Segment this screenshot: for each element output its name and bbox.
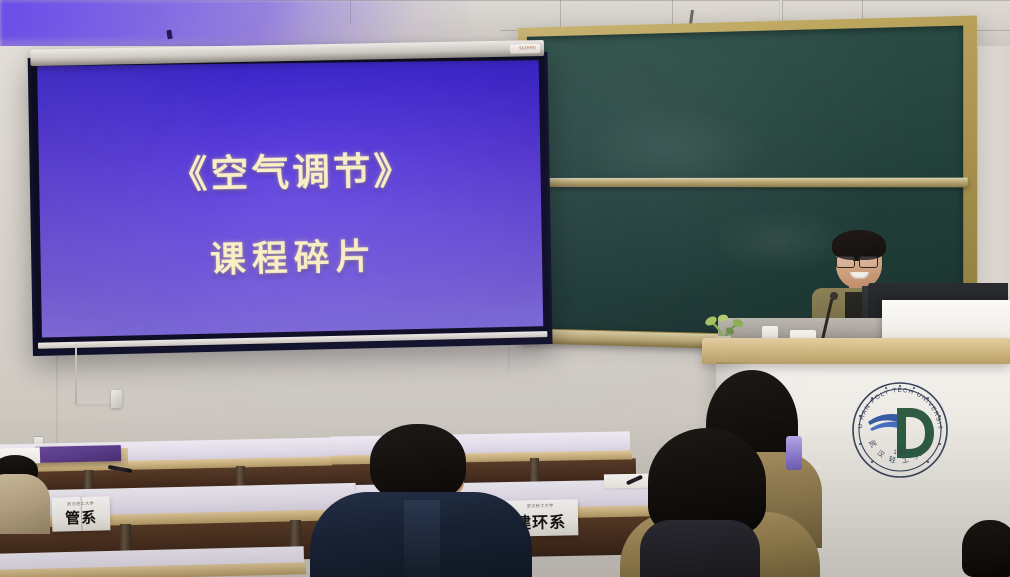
student-far-right-hair — [962, 520, 1010, 577]
student-left-edge-body — [0, 474, 50, 534]
nameplate-left[interactable]: 武汉轻工大学 管系 — [52, 496, 111, 532]
screen-bevel: 《空气调节》 课程碎片 — [31, 55, 550, 350]
screen-canvas: 《空气调节》 课程碎片 — [37, 60, 543, 337]
purple-notebook[interactable] — [35, 445, 121, 463]
microphone-icon[interactable] — [830, 292, 838, 300]
university-seal-logo: WU HAN POLY TECH UNIVERSITY 武 汉 轻 工 大 学 … — [848, 378, 952, 482]
screen-pull-cord[interactable] — [75, 404, 115, 407]
projector-light-spill — [0, 0, 300, 40]
glasses-icon — [836, 256, 882, 266]
jacket-center-seam — [404, 500, 440, 577]
projection-screen[interactable]: 《空气调节》 课程碎片 — [28, 52, 553, 356]
student-front-center-hair — [370, 424, 466, 502]
lecture-hall-scene: screen 《空气调节》 课程碎片 — [0, 0, 1010, 577]
desk-leg — [530, 458, 539, 482]
svg-text:1951: 1951 — [893, 450, 907, 456]
slide-subtitle: 课程碎片 — [40, 225, 542, 286]
screen-pull-handle[interactable] — [111, 390, 122, 408]
student-right-near-scarf — [640, 520, 760, 577]
slide-title: 《空气调节》 — [39, 138, 541, 201]
purple-water-bottle[interactable] — [786, 436, 802, 470]
housing-label: screen — [519, 45, 536, 51]
blackboard-center-rail — [524, 178, 968, 188]
screen-pull-cord[interactable] — [75, 344, 77, 406]
podium-counter-top — [702, 338, 1010, 364]
